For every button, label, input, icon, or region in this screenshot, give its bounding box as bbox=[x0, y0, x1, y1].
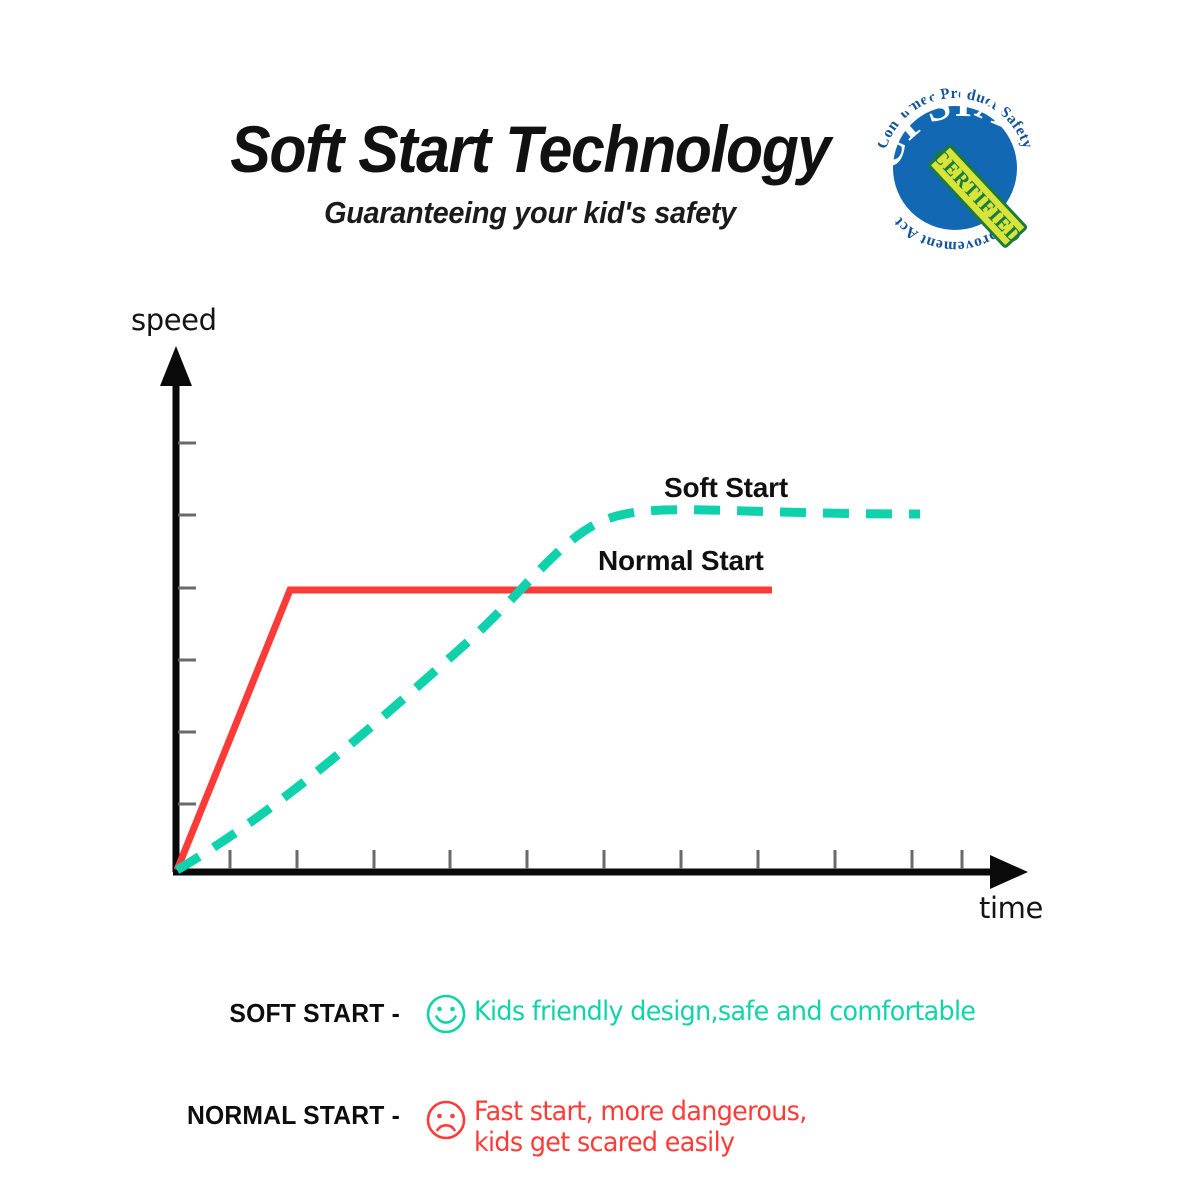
legend-text-soft-start: Kids friendly design,safe and comfortabl… bbox=[474, 996, 975, 1027]
legend-key-soft-start: SOFT START - bbox=[20, 998, 400, 1028]
y-axis-arrowhead bbox=[160, 346, 192, 386]
legend-row-normal-start: NORMAL START - Fast start, more dangerou… bbox=[0, 1046, 1200, 1116]
smiley-face-icon bbox=[424, 992, 468, 1036]
legend-key-normal-start: NORMAL START - bbox=[20, 1100, 400, 1130]
y-axis-label: speed bbox=[131, 305, 217, 335]
series-label-normal-start: Normal Start bbox=[598, 546, 764, 576]
legend-row-soft-start: SOFT START - Kids friendly design,safe a… bbox=[0, 976, 1200, 1046]
x-axis bbox=[173, 855, 1028, 889]
legend: SOFT START - Kids friendly design,safe a… bbox=[0, 960, 1200, 1160]
speed-vs-time-chart: speed time Soft Start Normal Start bbox=[0, 290, 1200, 950]
cpsia-certified-badge: Consumer Product Safety Improvement Act … bbox=[865, 78, 1045, 258]
header: Soft Start Technology Guaranteeing your … bbox=[0, 0, 1200, 290]
series-soft-start bbox=[177, 510, 920, 870]
sad-face-icon bbox=[424, 1098, 468, 1142]
series-label-soft-start: Soft Start bbox=[664, 473, 788, 503]
legend-text-normal-start: Fast start, more dangerous, kids get sca… bbox=[474, 1096, 807, 1158]
x-axis-label: time bbox=[979, 893, 1043, 923]
y-axis-ticks bbox=[178, 443, 196, 804]
x-axis-ticks bbox=[230, 850, 962, 869]
x-axis-arrowhead bbox=[990, 855, 1028, 889]
y-axis bbox=[160, 346, 192, 872]
series-normal-start bbox=[177, 590, 772, 870]
